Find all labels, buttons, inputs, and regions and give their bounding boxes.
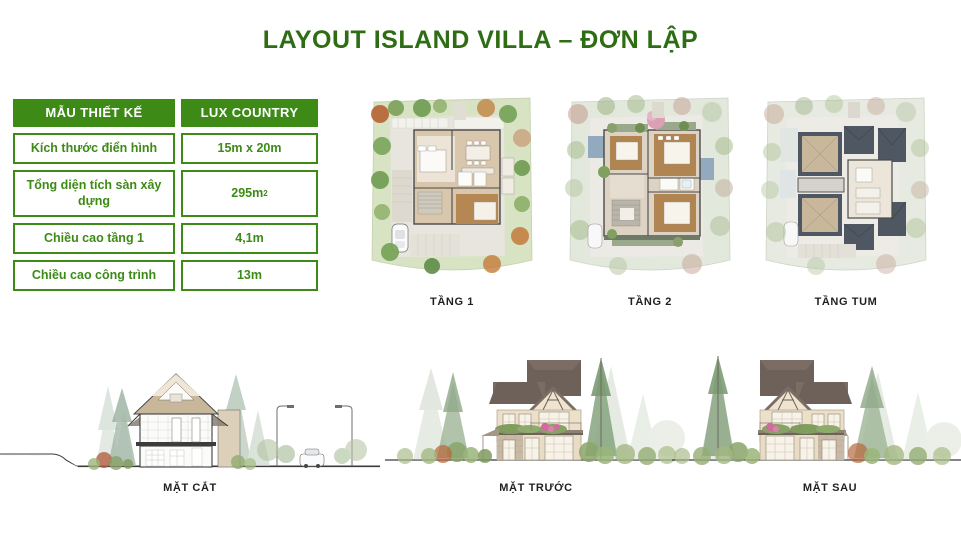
table-row: Kích thước điển hình 15m x 20m xyxy=(13,133,318,164)
table-header-lux-country: LUX COUNTRY xyxy=(181,99,318,127)
row-label-floor1-height: Chiều cao tầng 1 xyxy=(13,223,175,254)
row-value-typical-size: 15m x 20m xyxy=(181,133,318,164)
ground-floor-plan xyxy=(362,84,542,282)
slide-canvas: LAYOUT ISLAND VILLA – ĐƠN LẬP MẪU THIẾT … xyxy=(0,0,961,540)
row-label-typical-size: Kích thước điển hình xyxy=(13,133,175,164)
table-row: Chiều cao tầng 1 4,1m xyxy=(13,223,318,254)
elevation-label-front: MẶT TRƯỚC xyxy=(446,482,626,494)
attic-floor-plan xyxy=(756,84,936,282)
front-elevation xyxy=(385,338,685,478)
row-value-building-height: 13m xyxy=(181,260,318,291)
floor-plan-label-2: TẦNG 2 xyxy=(560,296,740,308)
floor-plan-label-3: TẦNG TUM xyxy=(756,296,936,308)
page-title: LAYOUT ISLAND VILLA – ĐƠN LẬP xyxy=(0,26,961,55)
row-value-total-floor-area: 295m2 xyxy=(181,170,318,217)
spec-table: MẪU THIẾT KẾ LUX COUNTRY Kích thước điển… xyxy=(13,99,318,297)
area-number: 295m xyxy=(231,186,263,202)
floor-plans-row xyxy=(352,84,952,314)
table-row: Tổng diện tích sàn xây dựng 295m2 xyxy=(13,170,318,217)
row-label-total-floor-area: Tổng diện tích sàn xây dựng xyxy=(13,170,175,217)
table-header-design-model: MẪU THIẾT KẾ xyxy=(13,99,175,127)
row-label-building-height: Chiều cao công trình xyxy=(13,260,175,291)
row-value-floor1-height: 4,1m xyxy=(181,223,318,254)
rear-elevation xyxy=(672,338,961,478)
section-view xyxy=(0,338,380,478)
elevation-label-section: MẶT CẮT xyxy=(100,482,280,494)
elevation-label-rear: MẶT SAU xyxy=(740,482,920,494)
table-header-row: MẪU THIẾT KẾ LUX COUNTRY xyxy=(13,99,318,127)
floor-plan-label-1: TẦNG 1 xyxy=(362,296,542,308)
area-superscript: 2 xyxy=(263,189,267,199)
second-floor-plan xyxy=(560,84,740,282)
table-row: Chiều cao công trình 13m xyxy=(13,260,318,291)
